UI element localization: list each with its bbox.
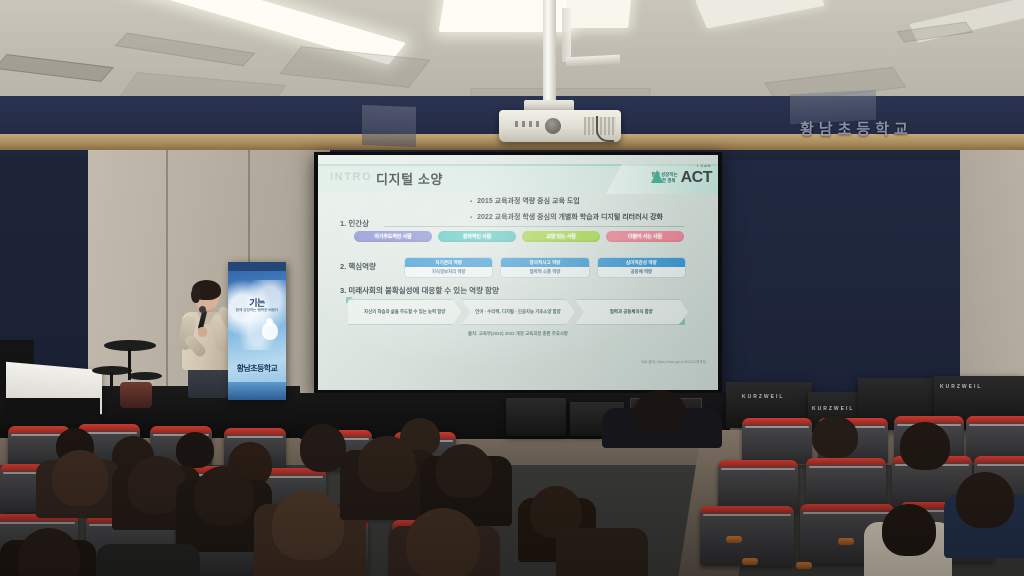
human-traits-row: 자기주도적인 사람 창의적인 사람 교양 있는 사람 더불어 사는 사람 <box>354 231 684 242</box>
banner-cloud-graphic <box>228 280 286 350</box>
drum-shell <box>120 382 152 408</box>
audience-shoulders <box>556 528 648 576</box>
auditorium-seat <box>718 460 798 512</box>
competency-head: 심미적감성 역량 <box>598 258 685 267</box>
school-name-sign: 황남초등학교 <box>800 118 960 144</box>
capability-step: 언어 · 수리력, 디지털 · 인공지능 기초소양 함양 <box>461 299 574 325</box>
projector-cable <box>596 116 614 142</box>
competency-card: 창의적사고 역량 협력적 소통 역량 <box>500 257 589 278</box>
banner-subline: 함께 성장하는 행복한 배움터 <box>228 308 286 313</box>
projector-lens-icon <box>545 118 561 134</box>
slide-bullet-text: 2022 교육과정 학생 중심의 개별화 학습과 디지털 리터러시 강화 <box>477 212 663 222</box>
act-logo-triangle-icon <box>651 170 663 183</box>
projection-screen: INTRO 디지털 소양 함께 성장하는똑똑한 경북 ACT I CAN ▪ 2… <box>318 155 718 390</box>
capability-step: 자신의 학습과 삶을 주도할 수 있는 능력 함양 <box>348 299 461 325</box>
banner-school-name: 황남초등학교 <box>228 363 286 374</box>
seat-armrest <box>726 536 742 543</box>
ceiling-light-fixture <box>564 0 631 28</box>
presentation-slide: INTRO 디지털 소양 함께 성장하는똑똑한 경북 ACT I CAN ▪ 2… <box>318 155 718 390</box>
banner-bird-icon <box>262 322 278 340</box>
audience-head <box>900 422 950 470</box>
audience-head <box>176 432 214 468</box>
audience-shoulders <box>96 544 200 576</box>
banner-top-rail <box>228 262 286 271</box>
trait-pill: 교양 있는 사람 <box>522 231 600 242</box>
microphone-head-icon <box>199 306 206 313</box>
competency-body: 지식정보처리 역량 <box>405 267 492 277</box>
auditorium-seat <box>742 418 812 464</box>
slide-source-note: 출처: 교육부(2022) 2022 개정 교육과정 총론 주요사항 <box>318 331 718 337</box>
seat-armrest <box>796 562 812 569</box>
cymbal-stand <box>110 372 113 406</box>
trait-pill: 자기주도적인 사람 <box>354 231 432 242</box>
projector-mount-pole <box>543 0 556 106</box>
competency-body: 협력적 소통 역량 <box>501 267 588 277</box>
speaker-brand-label: KURZWEIL <box>940 384 982 390</box>
competency-card: 자기관리 역량 지식정보처리 역량 <box>404 257 493 278</box>
presenter-left-hand <box>198 327 207 337</box>
seat-armrest <box>838 538 854 545</box>
banner-bottom-rail <box>228 382 286 400</box>
projector-buttons <box>515 121 539 127</box>
auditorium-seat <box>700 506 794 566</box>
competency-card: 심미적감성 역량 공동체 역량 <box>597 257 686 278</box>
audience-head <box>406 508 480 576</box>
slide-section-2: 2. 핵심역량 <box>340 261 376 272</box>
cymbal <box>128 372 162 380</box>
chevron-corner-decor <box>678 318 685 325</box>
slide-bullet: ▪ 2022 교육과정 학생 중심의 개별화 학습과 디지털 리터러시 강화 <box>470 212 663 222</box>
audience-head <box>882 504 936 556</box>
act-logo: 함께 성장하는똑똑한 경북 ACT I CAN <box>652 167 712 189</box>
core-competency-row: 자기관리 역량 지식정보처리 역량 창의적사고 역량 협력적 소통 역량 심미적… <box>404 257 686 278</box>
audience-head <box>358 436 416 492</box>
trait-pill: 더불어 사는 사람 <box>606 231 684 242</box>
audience-head <box>812 416 858 458</box>
slide-section-3: 3. 미래사회의 불확실성에 대응할 수 있는 역량 함양 <box>340 285 499 296</box>
auditorium-seat <box>806 458 886 510</box>
audience-head <box>52 450 108 506</box>
audience-head <box>436 444 492 498</box>
speaker-brand-label: KURZWEIL <box>742 394 784 400</box>
audience-head <box>956 472 1014 528</box>
act-logo-tagline: I CAN <box>697 163 711 168</box>
slide-section-1: 1. 인간상 <box>340 218 369 229</box>
seat-armrest <box>742 558 758 565</box>
audience-seating <box>0 408 1024 576</box>
act-logo-wordmark: ACT <box>681 169 712 187</box>
capability-step: 협력과 공동체의식 함양 <box>575 299 688 325</box>
audience-head <box>634 390 686 434</box>
competency-head: 자기관리 역량 <box>405 258 492 267</box>
wall-panel-right <box>960 150 1024 400</box>
trait-pill: 창의적인 사람 <box>438 231 516 242</box>
capability-steps-row: 자신의 학습과 삶을 주도할 수 있는 능력 함양 언어 · 수리력, 디지털 … <box>348 299 688 325</box>
slide-eyebrow: INTRO <box>330 171 372 183</box>
slide-bullet-text: 2015 교육과정 역량 중심 교육 도입 <box>477 196 580 206</box>
presenter-legs <box>188 368 228 398</box>
bullet-dot-icon: ▪ <box>470 199 472 205</box>
presenter-hair <box>191 287 200 303</box>
bullet-dot-icon: ▪ <box>470 215 472 221</box>
wall-vent <box>362 105 416 147</box>
audience-head <box>194 466 254 526</box>
projector-mount-pole <box>562 8 571 62</box>
slide-title: 디지털 소양 <box>376 169 443 188</box>
auditorium-photo: 황남초등학교 INTRO 디지털 소양 함께 성장하는똑똑한 경북 ACT I … <box>0 0 1024 576</box>
slide-bullet: ▪ 2015 교육과정 역량 중심 교육 도입 <box>470 196 580 206</box>
audience-head <box>272 490 344 560</box>
competency-head: 창의적사고 역량 <box>501 258 588 267</box>
competency-body: 공동체 역량 <box>598 267 685 277</box>
slide-source-url: 자료 출처: https://moe.go.kr/2022교육과정 <box>641 360 706 365</box>
rollup-banner: 기는 함께 성장하는 행복한 배움터 황남초등학교 <box>228 262 286 400</box>
